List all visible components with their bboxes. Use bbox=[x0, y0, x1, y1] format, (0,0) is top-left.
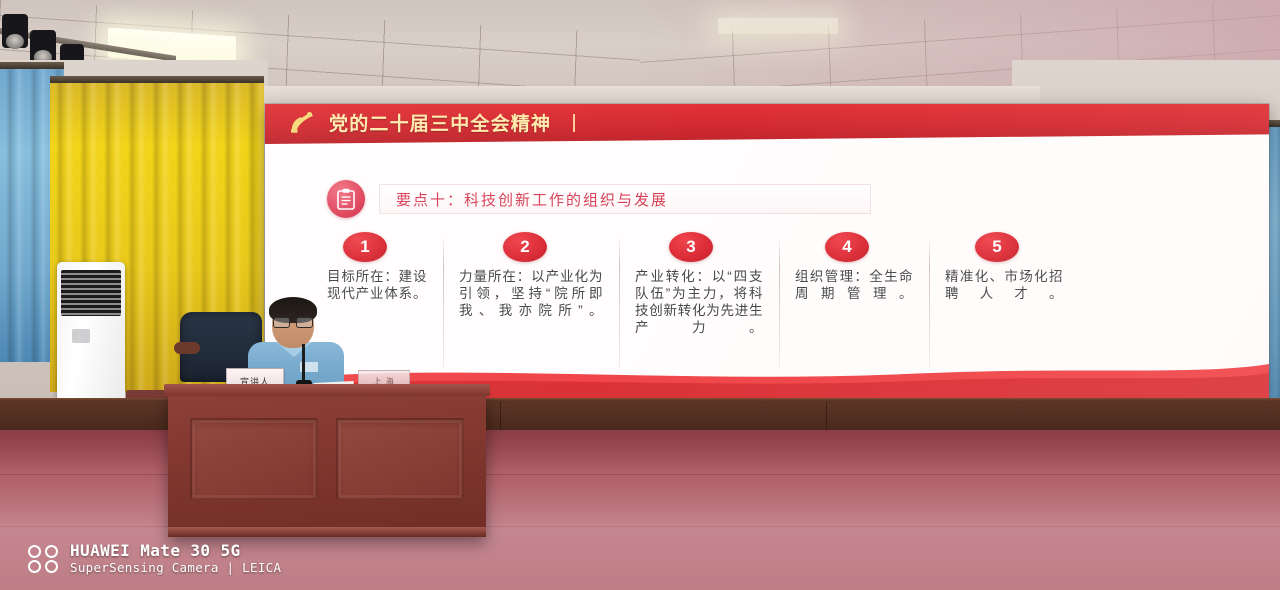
column-number-badge: 2 bbox=[503, 232, 547, 262]
slide-banner-title: 党的二十届三中全会精神 bbox=[329, 109, 551, 136]
camera-lens-dot bbox=[45, 560, 58, 573]
ac-logo bbox=[72, 329, 90, 344]
slide-column-3: 3 产业转化：以“四支队伍”为主力，将科技创新转化为先进生产力。 bbox=[619, 232, 779, 362]
camera-watermark: HUAWEI Mate 30 5G SuperSensing Camera | … bbox=[28, 542, 281, 576]
banner-divider bbox=[573, 114, 575, 132]
slide-subtitle-box: 要点十：科技创新工作的组织与发展 bbox=[379, 184, 871, 214]
clipboard-icon bbox=[327, 180, 365, 218]
column-text: 精准化、市场化招聘人才。 bbox=[945, 268, 1063, 302]
slide-subtitle-text: 要点十：科技创新工作的组织与发展 bbox=[396, 189, 668, 210]
wooden-podium bbox=[168, 392, 486, 537]
camera-lens-dot bbox=[28, 560, 41, 573]
podium-countertop bbox=[164, 384, 490, 396]
slide-column-4: 4 组织管理：全生命周期管理。 bbox=[779, 232, 929, 362]
ceiling-panel-light-center bbox=[718, 18, 838, 34]
chair-armrest bbox=[174, 342, 200, 354]
quad-circle-camera-icon bbox=[28, 545, 60, 573]
ac-grille bbox=[61, 270, 121, 316]
watermark-line-1: HUAWEI Mate 30 5G bbox=[70, 542, 281, 561]
column-text: 产业转化：以“四支队伍”为主力，将科技创新转化为先进生产力。 bbox=[635, 268, 763, 336]
slide: 党的二十届三中全会精神 要点十：科技创新工作的组织与发展 bbox=[265, 104, 1269, 400]
column-text: 组织管理：全生命周期管理。 bbox=[795, 268, 913, 302]
party-emblem-icon bbox=[287, 110, 317, 136]
projection-screen: 党的二十届三中全会精神 要点十：科技创新工作的组织与发展 bbox=[265, 104, 1269, 400]
camera-lens-dot bbox=[45, 545, 58, 558]
watermark-line-2: SuperSensing Camera | LEICA bbox=[70, 561, 281, 576]
podium-base-trim bbox=[168, 527, 486, 537]
curtain-rod bbox=[50, 76, 264, 83]
column-number-badge: 4 bbox=[825, 232, 869, 262]
column-text: 力量所在：以产业化为引领，坚持“院所即我、我亦院所”。 bbox=[459, 268, 603, 319]
column-number-badge: 3 bbox=[669, 232, 713, 262]
screenshot-scene: 党的二十届三中全会精神 要点十：科技创新工作的组织与发展 bbox=[0, 0, 1280, 590]
camera-lens-dot bbox=[28, 545, 41, 558]
slide-subtitle-row: 要点十：科技创新工作的组织与发展 bbox=[327, 180, 871, 218]
slide-column-2: 2 力量所在：以产业化为引领，坚持“院所即我、我亦院所”。 bbox=[443, 232, 619, 362]
podium-panel-left bbox=[190, 418, 318, 500]
slide-column-5: 5 精准化、市场化招聘人才。 bbox=[929, 232, 1079, 362]
column-number-badge: 1 bbox=[343, 232, 387, 262]
column-text: 目标所在：建设现代产业体系。 bbox=[327, 268, 427, 302]
slide-banner: 党的二十届三中全会精神 bbox=[265, 104, 1269, 144]
column-number-badge: 5 bbox=[975, 232, 1019, 262]
eyeglasses-icon bbox=[273, 317, 313, 326]
stage-light-left-b bbox=[30, 30, 56, 64]
podium-panel-right bbox=[336, 418, 464, 500]
curtain-rod bbox=[0, 62, 64, 69]
slide-columns: 1 目标所在：建设现代产业体系。 2 力量所在：以产业化为引领，坚持“院所即我、… bbox=[311, 232, 1231, 362]
stage-light-left-a bbox=[2, 14, 28, 48]
watermark-text: HUAWEI Mate 30 5G SuperSensing Camera | … bbox=[70, 542, 281, 576]
